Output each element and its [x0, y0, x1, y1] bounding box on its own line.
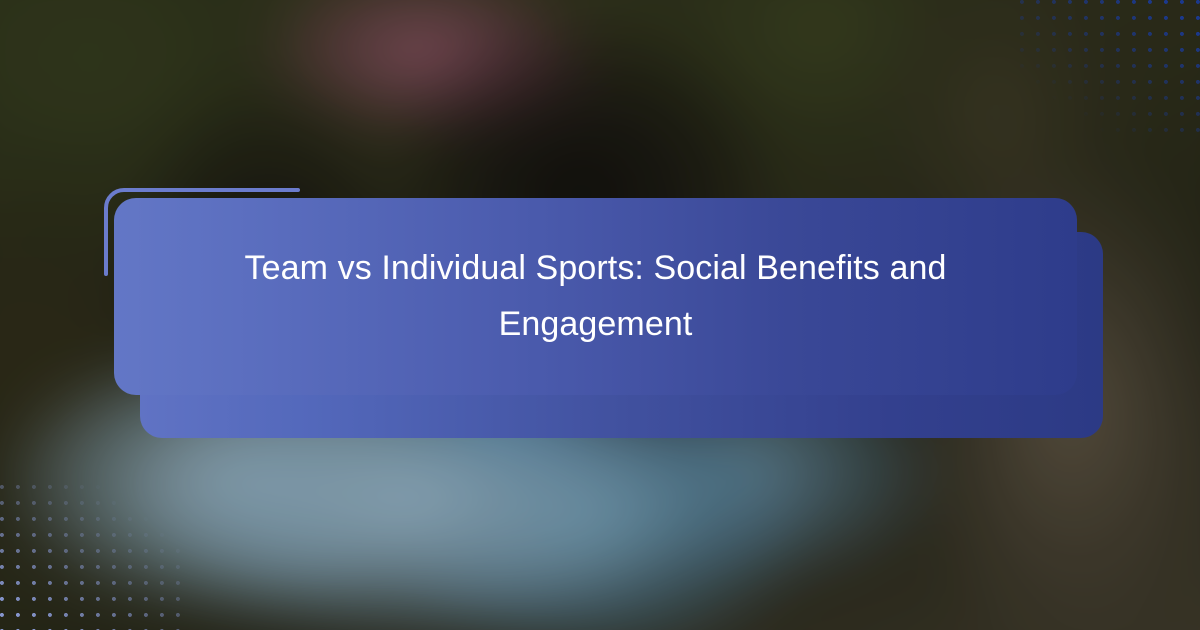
share-card-canvas: Team vs Individual Sports: Social Benefi…	[0, 0, 1200, 630]
page-title: Team vs Individual Sports: Social Benefi…	[186, 241, 1006, 351]
title-card: Team vs Individual Sports: Social Benefi…	[114, 198, 1077, 395]
dot-grid-top-right-icon	[1020, 0, 1200, 135]
dot-grid-bottom-left-icon	[0, 485, 185, 630]
